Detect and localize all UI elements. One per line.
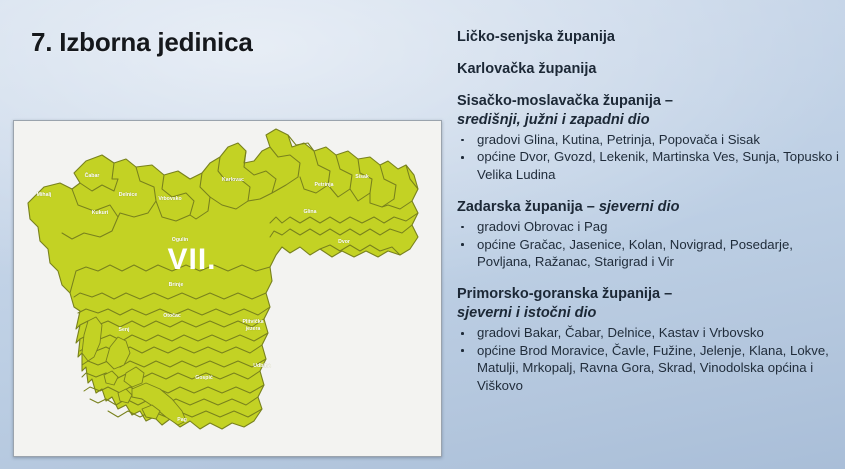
list-item: gradovi Bakar, Čabar, Delnice, Kastav i … xyxy=(457,324,839,341)
county-bullet-list: gradovi Glina, Kutina, Petrinja, Popovač… xyxy=(457,131,839,183)
map-label: Ogulin xyxy=(172,237,188,243)
map-label: Čabar xyxy=(85,172,100,179)
map-label: Karlovac xyxy=(222,177,244,183)
county-block-primorsko-goranska: Primorsko-goranska županija – sjeverni i… xyxy=(457,285,839,394)
spacer xyxy=(457,79,839,92)
map-label: Sisak xyxy=(355,174,369,180)
county-heading-italic: sjeverni dio xyxy=(599,199,680,215)
map-label: Glina xyxy=(304,209,317,215)
list-item: gradovi Glina, Kutina, Petrinja, Popovač… xyxy=(457,131,839,148)
map-label: Dvor xyxy=(338,239,350,245)
map-label: Kukuri xyxy=(92,210,109,216)
county-heading: Karlovačka županija xyxy=(457,60,839,79)
map-label: Brinje xyxy=(169,282,184,288)
county-list-column: Ličko-senjska županija Karlovačka župani… xyxy=(457,28,839,394)
map-label: Petrinja xyxy=(314,182,333,188)
map-label: Mihalj xyxy=(37,192,52,198)
map-panel: VII. Mihalj Čabar Delnice Kukuri Vrbovsk… xyxy=(13,120,442,457)
bullet-dot-icon xyxy=(461,349,464,352)
county-heading: Primorsko-goranska županija – xyxy=(457,285,839,304)
county-block-zadarska: Zadarska županija – sjeverni dio gradovi… xyxy=(457,198,839,270)
presentation-slide: 7. Izborna jedinica xyxy=(0,0,845,469)
county-bullet-list: gradovi Obrovac i Pag općine Gračac, Jas… xyxy=(457,218,839,270)
map-label: Udbina xyxy=(253,363,271,369)
map-label: Senj xyxy=(119,327,131,333)
county-block-karlovacka: Karlovačka županija xyxy=(457,60,839,79)
list-item: općine Gračac, Jasenice, Kolan, Novigrad… xyxy=(457,236,839,271)
map-unit-number: VII. xyxy=(167,243,216,276)
list-item-text: gradovi Glina, Kutina, Petrinja, Popovač… xyxy=(477,132,760,147)
bullet-dot-icon xyxy=(461,226,464,229)
list-item: gradovi Obrovac i Pag xyxy=(457,218,839,235)
bullet-dot-icon xyxy=(461,156,464,159)
county-heading: Sisačko-moslavačka županija – xyxy=(457,92,839,111)
list-item-text: općine Dvor, Gvozd, Lekenik, Martinska V… xyxy=(477,149,839,181)
bullet-dot-icon xyxy=(461,243,464,246)
county-subheading: središnji, južni i zapadni dio xyxy=(457,111,839,130)
county-block-licko-senjska: Ličko-senjska županija xyxy=(457,28,839,47)
list-item-text: općine Gračac, Jasenice, Kolan, Novigrad… xyxy=(477,237,793,269)
bullet-dot-icon xyxy=(461,139,464,142)
list-item-text: općine Brod Moravice, Čavle, Fužine, Jel… xyxy=(477,343,829,393)
county-block-sisacko-moslavacka: Sisačko-moslavačka županija – središnji,… xyxy=(457,92,839,183)
bullet-dot-icon xyxy=(461,332,464,335)
map-label: Delnice xyxy=(119,192,138,198)
county-heading-plain: Zadarska županija – xyxy=(457,199,599,215)
list-item: općine Brod Moravice, Čavle, Fužine, Jel… xyxy=(457,342,839,394)
county-subheading: sjeverni i istočni dio xyxy=(457,304,839,323)
spacer xyxy=(457,183,839,198)
page-title: 7. Izborna jedinica xyxy=(31,27,253,58)
list-item-text: gradovi Bakar, Čabar, Delnice, Kastav i … xyxy=(477,325,764,340)
list-item: općine Dvor, Gvozd, Lekenik, Martinska V… xyxy=(457,148,839,183)
county-heading: Zadarska županija – sjeverni dio xyxy=(457,198,839,217)
county-heading: Ličko-senjska županija xyxy=(457,28,839,47)
map-label: Plitvička xyxy=(242,319,263,325)
map-label: jezera xyxy=(245,326,261,332)
county-bullet-list: gradovi Bakar, Čabar, Delnice, Kastav i … xyxy=(457,324,839,394)
croatia-electoral-unit-map: VII. Mihalj Čabar Delnice Kukuri Vrbovsk… xyxy=(14,121,441,456)
map-label: Vrbovsko xyxy=(158,196,181,202)
list-item-text: gradovi Obrovac i Pag xyxy=(477,219,607,234)
spacer xyxy=(457,270,839,285)
map-label: Otočac xyxy=(163,313,181,319)
map-label: Gospić xyxy=(195,375,213,381)
spacer xyxy=(457,47,839,60)
map-label: Pag xyxy=(177,417,187,423)
